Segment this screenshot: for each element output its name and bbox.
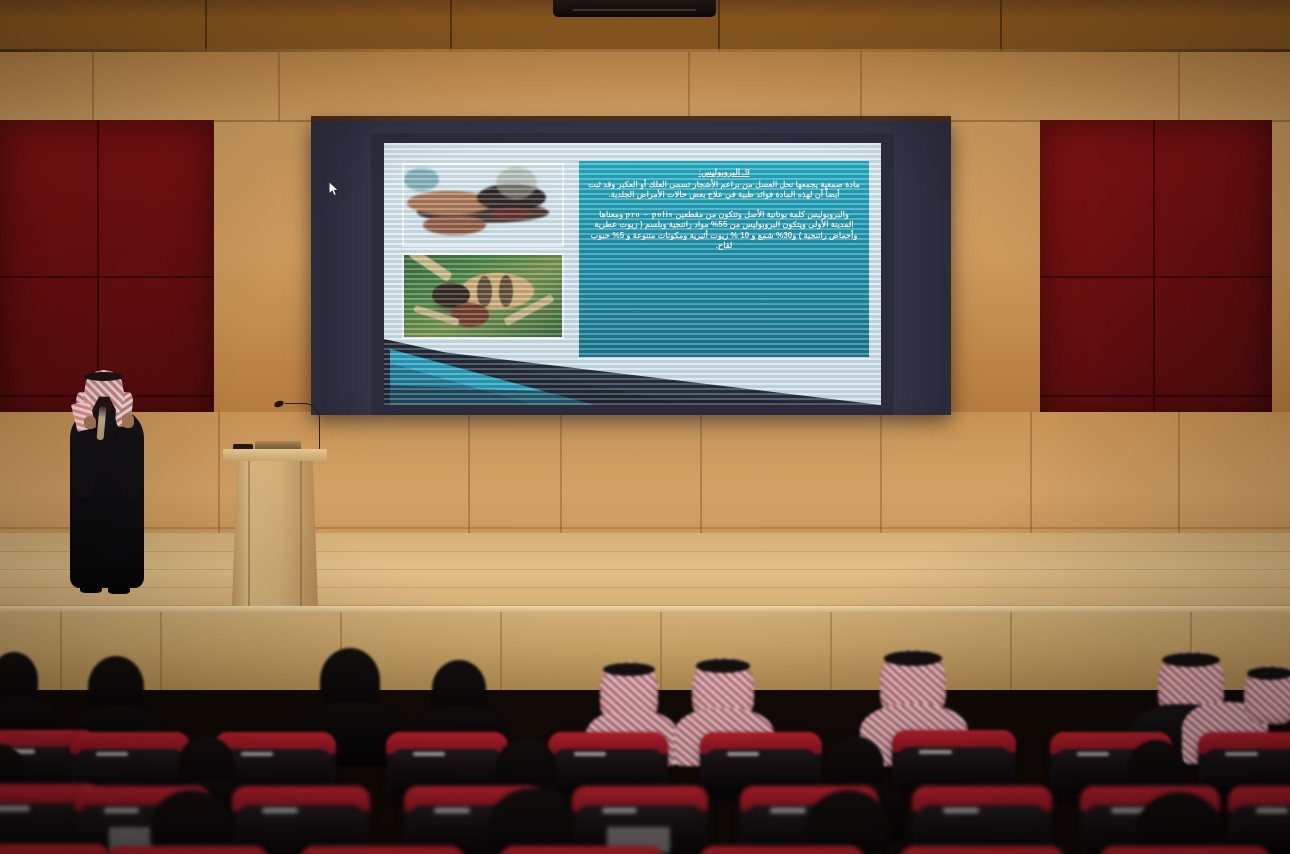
projection-screen[interactable]: 9ـ البروبوليس: مادة صمغية يجمعها نحل الع… [311, 121, 951, 415]
auditorium-seat[interactable] [912, 786, 1052, 854]
presenter-shoe-right [108, 585, 130, 594]
slide-bottom-decoration [384, 319, 881, 405]
mouse-pointer-cursor[interactable] [329, 182, 340, 197]
presenter-igal [84, 372, 124, 381]
presenter-hand-right [122, 414, 134, 428]
auditorium-seat[interactable] [500, 846, 664, 854]
auditorium-seat[interactable] [106, 846, 268, 854]
auditorium-seat[interactable] [572, 786, 708, 854]
red-acoustic-panel-right [1040, 120, 1272, 425]
slide-paragraph-1: مادة صمغية يجمعها نحل العسل من براعم الأ… [587, 180, 861, 201]
auditorium-seat[interactable] [0, 844, 110, 854]
presenter-hand-left [84, 416, 96, 429]
slide-paragraph-2: والبروبوليس كلمة يونانية الأصل وتتكون من… [587, 210, 861, 251]
podium-top-surface [223, 449, 327, 461]
podium-body [232, 461, 318, 606]
slide-paragraph-2-part-a: والبروبوليس كلمة يونانية الأصل وتتكون من… [675, 210, 848, 219]
auditorium-seat[interactable] [232, 786, 370, 854]
projector-housing [553, 0, 716, 17]
gooseneck-microphone [285, 403, 320, 452]
slide-title: 9ـ البروبوليس: [587, 167, 861, 178]
wooden-podium[interactable] [223, 449, 327, 606]
auditorium-seat[interactable] [900, 846, 1064, 854]
auditorium-seat[interactable] [700, 846, 864, 854]
presenter-speaker [60, 366, 156, 606]
auditorium-photo: 9ـ البروبوليس: مادة صمغية يجمعها نحل الع… [0, 0, 1290, 854]
slide-deco-svg [384, 319, 881, 405]
projected-slide: 9ـ البروبوليس: مادة صمغية يجمعها نحل الع… [384, 143, 881, 405]
auditorium-seat[interactable] [1228, 786, 1290, 854]
seated-audience [0, 640, 1290, 854]
auditorium-seat[interactable] [1100, 846, 1270, 854]
slide-term-latin: pro – polis [625, 210, 673, 219]
slide-image-propolis-branch [402, 163, 564, 247]
auditorium-seat[interactable] [300, 846, 464, 854]
presenter-shoe-left [80, 584, 102, 593]
